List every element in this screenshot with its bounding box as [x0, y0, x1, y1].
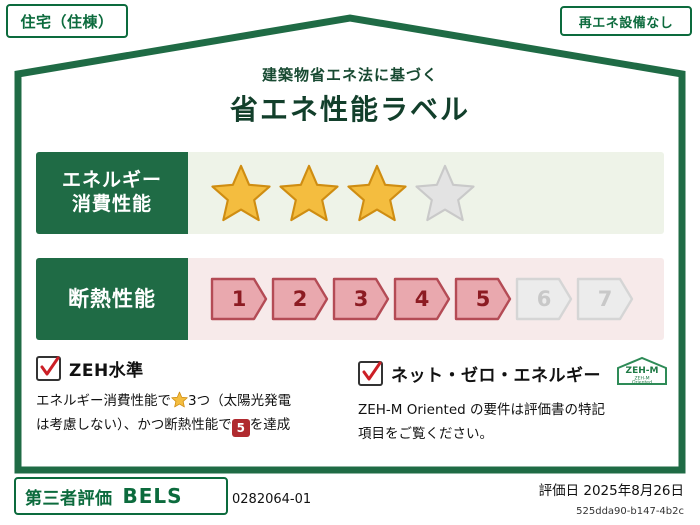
- check-zeh-standard-title: ZEH水準: [69, 356, 144, 381]
- row-insulation-label: 断熱性能: [36, 258, 188, 340]
- zeh-text-part4: を達成: [250, 417, 291, 433]
- zeh-text-part2: 3つ（太陽光発電: [188, 393, 291, 409]
- zeh-text-part1: エネルギー消費性能で: [36, 393, 171, 409]
- badge-renewable-energy: 再エネ設備なし: [560, 6, 692, 36]
- nze-text-line1: ZEH-M Oriented の要件は評価書の特記: [358, 402, 605, 418]
- subtitle-law: 建築物省エネ法に基づく: [0, 64, 700, 85]
- checkbox-net-zero-energy: [358, 361, 383, 386]
- badge-building-type-label: 住宅（住棟）: [20, 11, 113, 32]
- nze-text-line2: 項目をご覧ください。: [358, 426, 493, 442]
- inline-insulation-grade-badge: 5: [232, 419, 250, 437]
- svg-text:ZEH-M: ZEH-M: [626, 366, 659, 376]
- insulation-chip-1: 1: [210, 277, 268, 321]
- row-energy-label-line2: 消費性能: [72, 193, 152, 217]
- check-zeh-standard: ZEH水準 エネルギー消費性能で3つ（太陽光発電 は考慮しない）、かつ断熱性能で…: [36, 356, 336, 437]
- star-filled-2: [278, 163, 340, 223]
- star-empty-4: [414, 163, 476, 223]
- insulation-chip-3-label: 3: [354, 287, 369, 311]
- check-zeh-standard-head: ZEH水準: [36, 356, 336, 381]
- insulation-chip-1-label: 1: [232, 287, 247, 311]
- third-party-evaluation-box: 第三者評価 BELS: [14, 477, 228, 515]
- checkbox-zeh-standard: [36, 356, 61, 381]
- insulation-chip-2-label: 2: [293, 287, 308, 311]
- insulation-chip-5-label: 5: [476, 287, 491, 311]
- insulation-chip-6: 6: [515, 277, 573, 321]
- star-filled-1: [210, 163, 272, 223]
- badge-renewable-energy-label: 再エネ設備なし: [579, 12, 674, 31]
- check-net-zero-energy-title: ネット・ゼロ・エネルギー: [391, 361, 601, 386]
- row-energy-stars: [188, 152, 664, 234]
- evaluation-id: 525dda90-b147-4b2c: [576, 506, 684, 517]
- svg-text:Oriented: Oriented: [632, 380, 652, 386]
- evaluation-date: 評価日 2025年8月26日: [539, 479, 684, 499]
- energy-saving-performance-label: 住宅（住棟） 再エネ設備なし 建築物省エネ法に基づく 省エネ性能ラベル エネルギ…: [0, 0, 700, 525]
- insulation-chip-7-label: 7: [598, 287, 613, 311]
- check-net-zero-energy-head: ネット・ゼロ・エネルギー ZEH-M ZEH-M Oriented: [358, 356, 674, 390]
- insulation-chip-7: 7: [576, 277, 634, 321]
- third-party-evaluation-label: 第三者評価: [16, 484, 113, 509]
- insulation-chip-2: 2: [271, 277, 329, 321]
- check-net-zero-energy-text: ZEH-M Oriented の要件は評価書の特記 項目をご覧ください。: [358, 399, 674, 446]
- check-net-zero-energy: ネット・ゼロ・エネルギー ZEH-M ZEH-M Oriented ZEH-M …: [358, 356, 674, 446]
- insulation-chip-4: 4: [393, 277, 451, 321]
- row-insulation-label-text: 断熱性能: [68, 286, 156, 312]
- insulation-chip-5: 5: [454, 277, 512, 321]
- bels-label: BELS: [113, 484, 183, 508]
- check-zeh-standard-text: エネルギー消費性能で3つ（太陽光発電 は考慮しない）、かつ断熱性能で5を達成: [36, 390, 336, 437]
- star-filled-3: [346, 163, 408, 223]
- row-insulation-performance: 断熱性能 1 2 3 4: [36, 258, 664, 340]
- certificate-number: 0282064-01: [232, 492, 311, 507]
- page-title: 省エネ性能ラベル: [0, 88, 700, 128]
- row-energy-consumption: エネルギー 消費性能: [36, 152, 664, 234]
- insulation-chip-group: 1 2 3 4 5: [210, 277, 634, 321]
- insulation-chip-6-label: 6: [537, 287, 552, 311]
- zeh-m-oriented-mark-icon: ZEH-M ZEH-M Oriented: [615, 356, 669, 390]
- insulation-chip-4-label: 4: [415, 287, 430, 311]
- row-energy-label-line1: エネルギー: [62, 169, 162, 193]
- badge-building-type: 住宅（住棟）: [6, 4, 128, 38]
- inline-star-icon: [171, 391, 188, 408]
- row-energy-label: エネルギー 消費性能: [36, 152, 188, 234]
- insulation-chip-3: 3: [332, 277, 390, 321]
- row-insulation-levels: 1 2 3 4 5: [188, 258, 664, 340]
- zeh-text-part3: は考慮しない）、かつ断熱性能で: [36, 417, 232, 433]
